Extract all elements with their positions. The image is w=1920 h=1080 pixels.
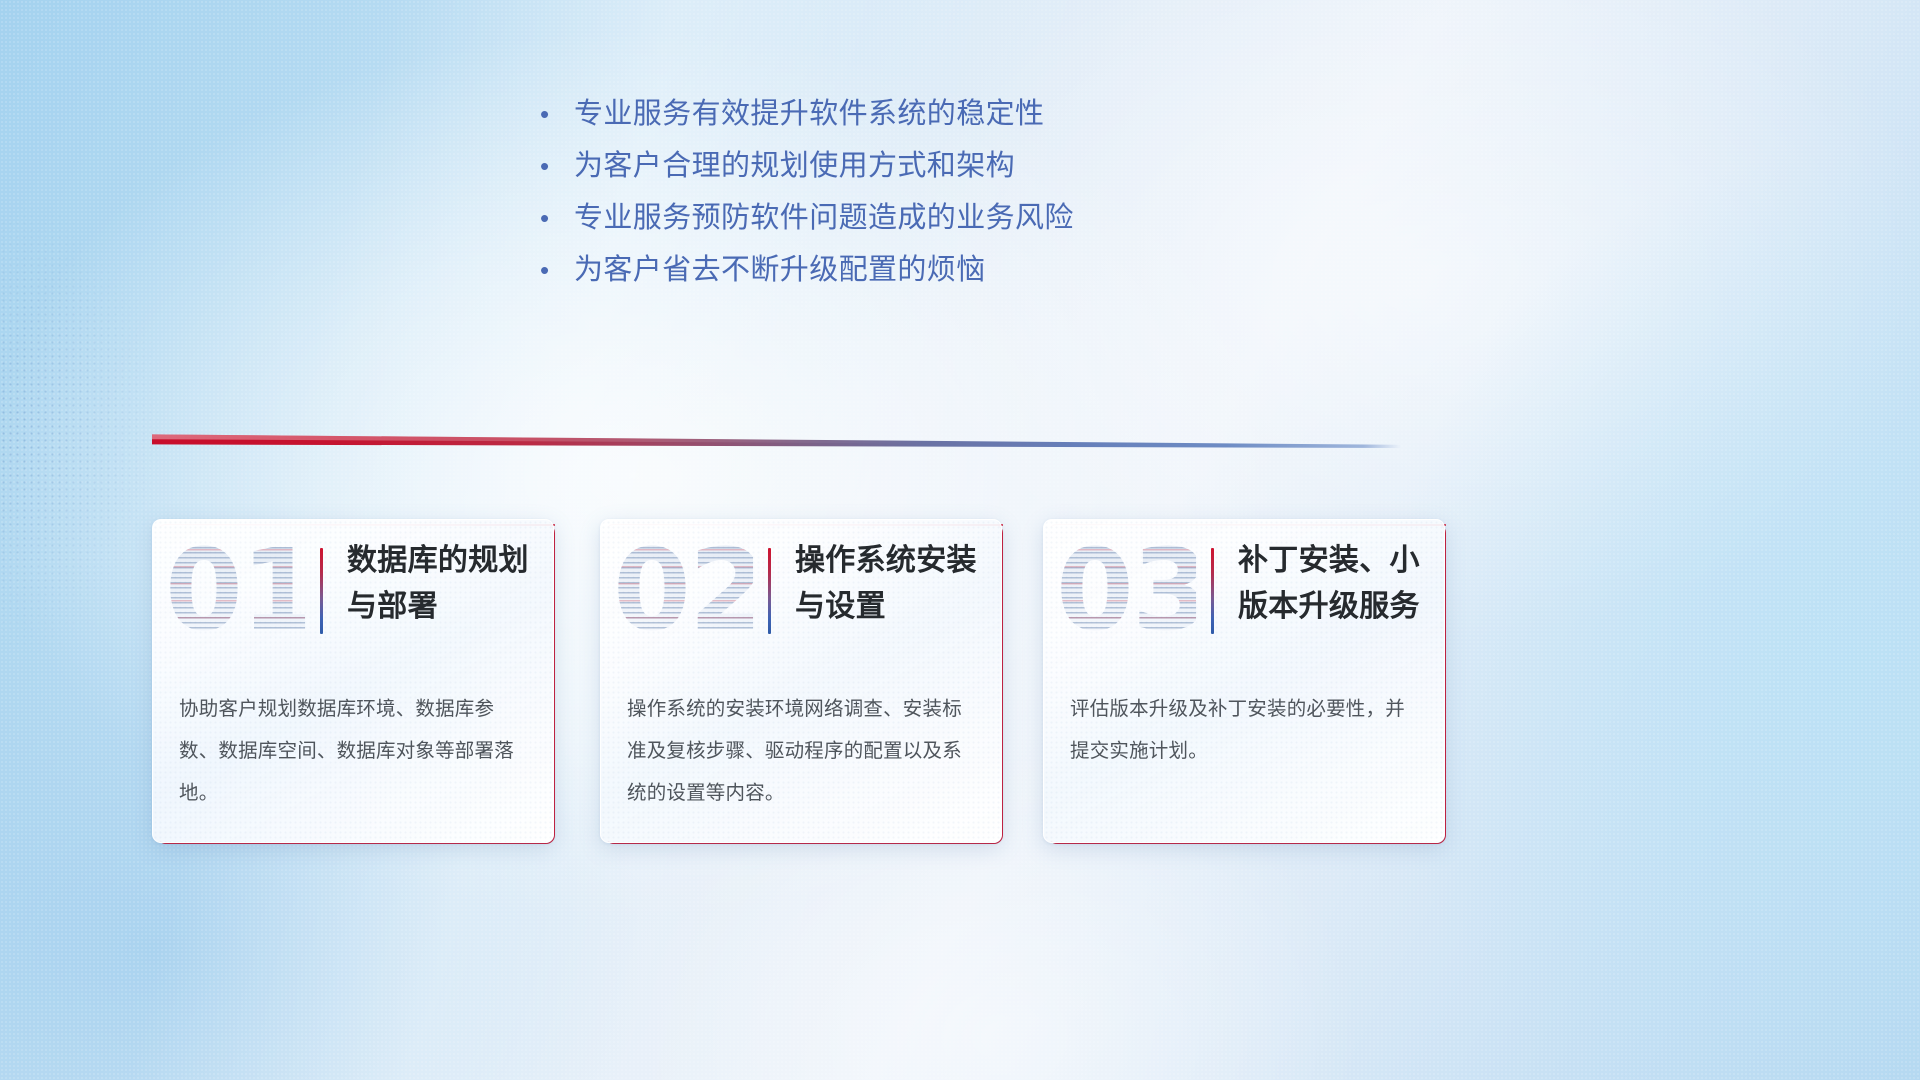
card-face: 03 03 补丁安装、小版本升级服务 评估版本升级及补丁安装的必要性，并提交实施… bbox=[1043, 519, 1445, 843]
card-ghost-number-tint: 02 bbox=[613, 532, 753, 650]
card-header: 03 03 补丁安装、小版本升级服务 bbox=[1044, 520, 1444, 670]
card-body-text: 协助客户规划数据库环境、数据库参数、数据库空间、数据库对象等部署落地。 bbox=[179, 688, 531, 814]
card-header: 01 01 数据库的规划与部署 bbox=[153, 520, 553, 670]
bullet-text: 为客户省去不断升级配置的烦恼 bbox=[574, 244, 986, 296]
service-card-02[interactable]: 02 02 操作系统安装与设置 操作系统的安装环境网络调查、安装标准及复核步骤、… bbox=[600, 519, 1000, 841]
card-face: 01 01 数据库的规划与部署 协助客户规划数据库环境、数据库参数、数据库空间、… bbox=[152, 519, 554, 843]
card-title: 数据库的规划与部署 bbox=[347, 538, 545, 630]
bullet-item: • 专业服务预防软件问题造成的业务风险 bbox=[540, 192, 1540, 244]
card-ghost-number-tint: 03 bbox=[1056, 532, 1196, 650]
bullet-marker-icon: • bbox=[540, 244, 574, 296]
card-title: 补丁安装、小版本升级服务 bbox=[1238, 538, 1436, 630]
service-card-row: 01 01 数据库的规划与部署 协助客户规划数据库环境、数据库参数、数据库空间、… bbox=[0, 519, 1920, 849]
section-divider-wedge bbox=[152, 430, 1401, 450]
bullet-item: • 为客户合理的规划使用方式和架构 bbox=[540, 140, 1540, 192]
benefits-bullet-list: • 专业服务有效提升软件系统的稳定性 • 为客户合理的规划使用方式和架构 • 专… bbox=[540, 88, 1540, 296]
service-card-01[interactable]: 01 01 数据库的规划与部署 协助客户规划数据库环境、数据库参数、数据库空间、… bbox=[152, 519, 552, 841]
bullet-item: • 为客户省去不断升级配置的烦恼 bbox=[540, 244, 1540, 296]
card-ghost-number-tint: 01 bbox=[165, 532, 305, 650]
bullet-text: 专业服务预防软件问题造成的业务风险 bbox=[574, 192, 1074, 244]
bullet-text: 为客户合理的规划使用方式和架构 bbox=[574, 140, 1015, 192]
bullet-marker-icon: • bbox=[540, 192, 574, 244]
card-body-text: 操作系统的安装环境网络调查、安装标准及复核步骤、驱动程序的配置以及系统的设置等内… bbox=[627, 688, 979, 814]
service-card-03[interactable]: 03 03 补丁安装、小版本升级服务 评估版本升级及补丁安装的必要性，并提交实施… bbox=[1043, 519, 1443, 841]
card-title: 操作系统安装与设置 bbox=[795, 538, 993, 630]
card-header: 02 02 操作系统安装与设置 bbox=[601, 520, 1001, 670]
bullet-marker-icon: • bbox=[540, 140, 574, 192]
bullet-marker-icon: • bbox=[540, 88, 574, 140]
card-title-divider-bar bbox=[1211, 548, 1214, 634]
card-title-divider-bar bbox=[768, 548, 771, 634]
bullet-item: • 专业服务有效提升软件系统的稳定性 bbox=[540, 88, 1540, 140]
card-title-divider-bar bbox=[320, 548, 323, 634]
card-body-text: 评估版本升级及补丁安装的必要性，并提交实施计划。 bbox=[1070, 688, 1422, 772]
bullet-text: 专业服务有效提升软件系统的稳定性 bbox=[574, 88, 1044, 140]
card-face: 02 02 操作系统安装与设置 操作系统的安装环境网络调查、安装标准及复核步骤、… bbox=[600, 519, 1002, 843]
